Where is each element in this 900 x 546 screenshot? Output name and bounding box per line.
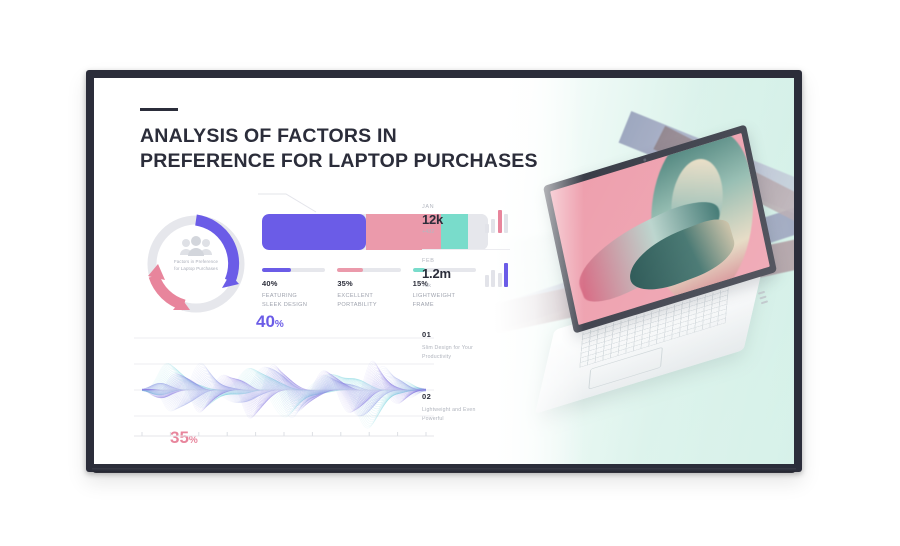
title-line-1: ANALYSIS OF FACTORS IN xyxy=(140,124,500,149)
legend-label-line-2: SLEEK DESIGN xyxy=(262,301,325,310)
page-title: ANALYSIS OF FACTORS IN PREFERENCE FOR LA… xyxy=(140,124,500,174)
legend-percent: 40% xyxy=(262,279,325,288)
legend-label: FEATURING SLEEK DESIGN xyxy=(262,292,325,310)
legend-label-line-1: FEATURING xyxy=(262,292,325,301)
slide-content: ANALYSIS OF FACTORS IN PREFERENCE FOR LA… xyxy=(94,78,514,464)
legend-item-portability: 35% EXCELLENT PORTABILITY xyxy=(337,268,412,310)
legend-fill xyxy=(337,268,362,272)
donut-caption-line-1: Factors in Preference xyxy=(164,259,228,266)
wave-chart-svg xyxy=(134,328,434,452)
legend-label-line-2: FRAME xyxy=(413,301,476,310)
list-item: 02 Lightweight and Even Powerful xyxy=(422,392,514,424)
legend-track xyxy=(337,268,400,272)
stats-column: JAN 12k +432 FEB 1.2m +3k xyxy=(422,196,510,299)
legend-label-line-1: EXCELLENT xyxy=(337,292,400,301)
legend-percent: 35% xyxy=(337,279,400,288)
list-item-number: 02 xyxy=(422,392,514,401)
title-line-2: PREFERENCE FOR LAPTOP PURCHASES xyxy=(140,149,500,174)
list-item-line-1: Slim Design for Your xyxy=(422,344,514,353)
presentation-slide: ANALYSIS OF FACTORS IN PREFERENCE FOR LA… xyxy=(94,78,794,464)
list-item-text: Lightweight and Even Powerful xyxy=(422,406,514,424)
laptop-product-photo xyxy=(494,78,794,464)
callout-connector-line xyxy=(256,192,328,214)
legend-track xyxy=(262,268,325,272)
stacked-bar-segment-design xyxy=(262,214,366,250)
list-item-text: Slim Design for Your Productivity xyxy=(422,344,514,362)
laptop-ports xyxy=(757,287,773,311)
stat-card-jan: JAN 12k +432 xyxy=(422,196,510,245)
donut-chart: Factors in Preference for Laptop Purchas… xyxy=(138,206,254,322)
stat-sparkline-feb xyxy=(485,263,509,287)
stat-sparkline-jan xyxy=(485,209,509,233)
wave-chart xyxy=(134,328,434,452)
monitor-frame: ANALYSIS OF FACTORS IN PREFERENCE FOR LA… xyxy=(86,70,802,472)
legend-label-line-2: PORTABILITY xyxy=(337,301,400,310)
numbered-list: 01 Slim Design for Your Productivity 02 … xyxy=(422,330,514,454)
list-item-number: 01 xyxy=(422,330,514,339)
legend-fill xyxy=(262,268,291,272)
monitor-display: ANALYSIS OF FACTORS IN PREFERENCE FOR LA… xyxy=(94,78,794,464)
people-icon xyxy=(179,236,213,256)
list-item: 01 Slim Design for Your Productivity xyxy=(422,330,514,362)
monitor-stand-edge xyxy=(92,468,796,473)
legend-label: EXCELLENT PORTABILITY xyxy=(337,292,400,310)
list-item-line-1: Lightweight and Even xyxy=(422,406,514,415)
title-rule xyxy=(140,108,178,111)
donut-caption-line-2: for Laptop Purchases xyxy=(164,266,228,273)
screenshot-canvas: ANALYSIS OF FACTORS IN PREFERENCE FOR LA… xyxy=(0,0,900,546)
donut-center-label: Factors in Preference for Laptop Purchas… xyxy=(164,236,228,292)
list-item-line-2: Powerful xyxy=(422,415,514,424)
list-item-line-2: Productivity xyxy=(422,353,514,362)
legend-item-design: 40% FEATURING SLEEK DESIGN xyxy=(262,268,337,310)
stat-card-feb: FEB 1.2m +3k xyxy=(422,249,510,299)
